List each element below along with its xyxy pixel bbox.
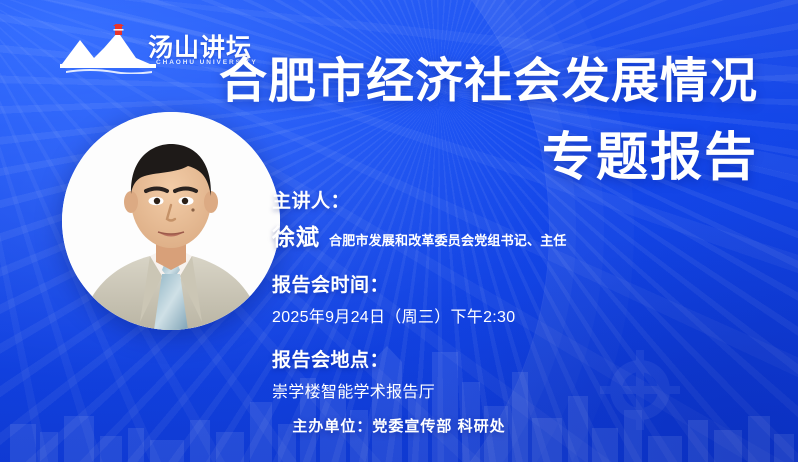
speaker-portrait-circle <box>62 112 280 330</box>
page-title-line1: 合肥市经济社会发展情况 <box>219 58 758 106</box>
poster-root: 汤山讲坛 CHAOHU UNIVERSITY <box>0 0 798 462</box>
speaker-label: 主讲人： <box>272 186 692 213</box>
page-title-line2: 专题报告 <box>542 132 758 184</box>
time-label: 报告会时间： <box>272 270 692 297</box>
spacer-1 <box>272 252 692 270</box>
time-value: 2025年9月24日（周三）下午2:30 <box>272 303 692 327</box>
speaker-row: 徐斌 合肥市发展和改革委员会党组书记、主任 <box>272 218 692 252</box>
speaker-title: 合肥市发展和改革委员会党组书记、主任 <box>329 230 567 252</box>
event-info-block: 主讲人： 徐斌 合肥市发展和改革委员会党组书记、主任 报告会时间： 2025年9… <box>272 186 692 402</box>
place-value: 崇学楼智能学术报告厅 <box>272 378 692 402</box>
speaker-name: 徐斌 <box>272 218 320 252</box>
pagoda-icon <box>113 24 124 35</box>
spacer-2 <box>272 327 692 345</box>
logo: 汤山讲坛 CHAOHU UNIVERSITY <box>60 22 240 80</box>
organizer-footer: 主办单位：党委宣传部 科研处 <box>0 415 798 436</box>
place-label: 报告会地点： <box>272 345 692 372</box>
speaker-portrait-image <box>62 112 280 330</box>
mountain-pagoda-wave-icon <box>60 24 156 74</box>
